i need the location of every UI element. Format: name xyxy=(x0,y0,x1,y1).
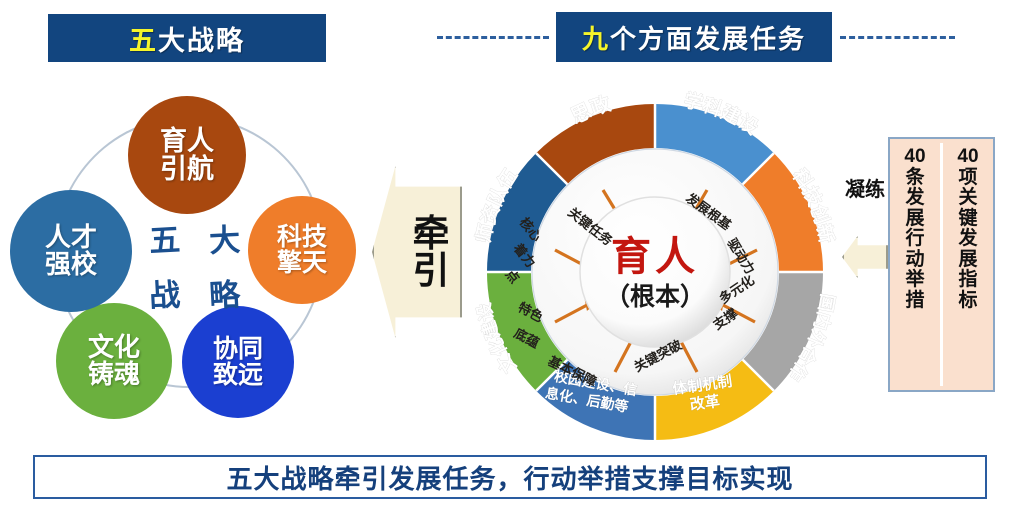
strategy-bubble-wenhua-zhuhun[interactable]: 文化 铸魂 xyxy=(56,303,172,419)
center-char-4: 略 xyxy=(207,269,240,316)
center-char-3: 战 xyxy=(147,269,180,316)
pull-char-2: 引 xyxy=(413,252,450,289)
bubble-line-2: 擎天 xyxy=(277,250,327,276)
dashed-line-left xyxy=(437,36,549,39)
pull-char-1: 牵 xyxy=(413,215,450,252)
strategy-bubble-rencai-qiangxiao[interactable]: 人才 强校 xyxy=(10,190,132,312)
footer-banner: 五大战略牵引发展任务，行动举措支撑目标实现 xyxy=(33,455,987,499)
bubble-line-2: 引航 xyxy=(160,155,214,183)
strategy-bubble-xietong-zhiyuan[interactable]: 协同 致远 xyxy=(182,306,294,418)
ningliang-label: 凝练 xyxy=(842,180,888,201)
slide-canvas: 五大战略 九个方面发展任务 育人 引航 科技 擎天 协同 致远 文化 铸魂 人才… xyxy=(0,0,1020,507)
bubble-line-2: 致远 xyxy=(213,362,263,388)
column-indicators-char-6: 指 xyxy=(958,270,977,291)
bubble-line-1: 协同 xyxy=(213,336,263,362)
right-title-highlight: 九 xyxy=(582,19,610,56)
right-title-banner: 九个方面发展任务 xyxy=(556,12,832,62)
bubble-line-1: 育人 xyxy=(160,127,214,155)
column-actions-char-5: 动 xyxy=(905,250,924,271)
column-indicators-char-2: 关 xyxy=(958,188,977,209)
footer-text: 五大战略牵引发展任务，行动举措支撑目标实现 xyxy=(226,459,793,496)
column-indicators-number: 40 xyxy=(957,147,978,168)
left-title-rest: 大战略 xyxy=(158,19,245,58)
strategy-bubble-yuren-yinhang[interactable]: 育人 引航 xyxy=(128,96,246,214)
column-actions-char-1: 条 xyxy=(905,168,924,189)
ningliang-arrow-group: 凝练 xyxy=(842,180,890,310)
column-indicators-char-4: 发 xyxy=(958,229,977,250)
panel-divider xyxy=(940,143,943,386)
column-indicators-char-1: 项 xyxy=(958,168,977,189)
measures-indicators-panel: 40 条 发 展 行 动 举 措 40 项 关 键 发 展 指 标 xyxy=(888,137,995,392)
column-actions-char-6: 举 xyxy=(905,270,924,291)
right-title-rest: 个方面发展任务 xyxy=(610,19,806,56)
bubble-line-2: 强校 xyxy=(45,251,97,278)
bubble-line-1: 文化 xyxy=(88,334,140,361)
leftward-arrow-icon xyxy=(842,236,888,278)
hub-main-label: 育人 xyxy=(611,233,699,280)
left-title-highlight: 五 xyxy=(129,19,158,58)
column-actions-char-3: 展 xyxy=(905,209,924,230)
column-indicators-char-5: 展 xyxy=(958,250,977,271)
five-strategies-center-label: 五 大 战 略 xyxy=(134,210,254,320)
center-char-2: 大 xyxy=(207,214,240,261)
column-actions-number: 40 xyxy=(904,147,925,168)
strategy-bubble-keji-qingtian[interactable]: 科技 擎天 xyxy=(248,196,356,304)
donut-svg: 育人 （根本） 思政 学科建设 科技创新 国内外合作 文化建设 xyxy=(455,72,855,472)
leftward-pull-arrow: 牵 引 xyxy=(372,166,462,338)
bubble-line-2: 铸魂 xyxy=(88,361,140,388)
nine-tasks-donut-chart: 育人 （根本） 思政 学科建设 科技创新 国内外合作 文化建设 xyxy=(455,72,855,472)
column-indicators-char-3: 键 xyxy=(958,209,977,230)
column-indicators-char-7: 标 xyxy=(958,291,977,312)
column-actions-char-7: 措 xyxy=(905,291,924,312)
left-title-banner: 五大战略 xyxy=(48,14,326,62)
column-indicators[interactable]: 40 项 关 键 发 展 指 标 xyxy=(946,143,990,386)
five-strategies-diagram: 育人 引航 科技 擎天 协同 致远 文化 铸魂 人才 强校 五 大 战 略 xyxy=(8,88,368,433)
bubble-line-1: 人才 xyxy=(45,224,97,251)
column-actions[interactable]: 40 条 发 展 行 动 举 措 xyxy=(893,143,937,386)
hub-sub-label: （根本） xyxy=(605,282,705,311)
center-char-1: 五 xyxy=(147,214,180,261)
dashed-line-right xyxy=(840,36,955,39)
pull-arrow-label: 牵 引 xyxy=(402,180,460,324)
column-actions-char-4: 行 xyxy=(905,229,924,250)
column-actions-char-2: 发 xyxy=(905,188,924,209)
bubble-line-1: 科技 xyxy=(277,224,327,250)
